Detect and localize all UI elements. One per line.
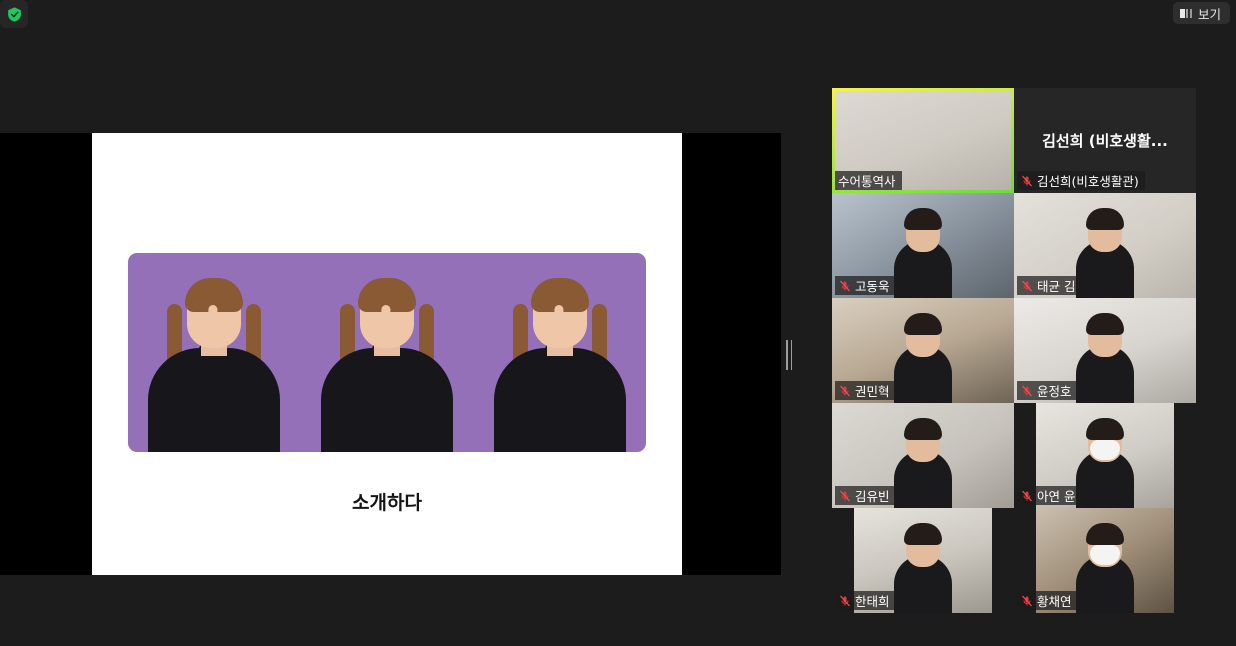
participant-figure: [1076, 555, 1134, 613]
participant-name: 김유빈: [855, 486, 890, 505]
participant-name: 수어통역사: [838, 171, 896, 190]
participant-figure: [894, 345, 952, 403]
participant-tile[interactable]: 윤정호: [1014, 298, 1196, 403]
shared-slide: 소개하다: [92, 133, 682, 575]
participant-tile[interactable]: 수어통역사: [832, 88, 1014, 193]
participant-figure: [1076, 240, 1134, 298]
participant-name-badge: 김유빈: [835, 486, 896, 505]
participant-name-badge: 권민혁: [835, 381, 896, 400]
shield-check-glyph: [6, 6, 23, 23]
signer-frame-2: [312, 267, 462, 452]
shield-check-icon[interactable]: [0, 0, 28, 28]
participant-figure: [894, 450, 952, 508]
participant-name: 권민혁: [855, 381, 890, 400]
participant-name-badge: 태균 김: [1017, 276, 1081, 295]
signer-frame-1: [139, 267, 289, 452]
mic-muted-icon: [839, 489, 851, 503]
slide-caption: 소개하다: [352, 488, 422, 515]
participant-name: 한태희: [855, 591, 890, 610]
participant-figure: [894, 240, 952, 298]
participant-name-badge: 윤정호: [1017, 381, 1078, 400]
participant-figure: [894, 555, 952, 613]
mic-muted-icon: [1021, 279, 1033, 293]
participant-tile[interactable]: 고동욱: [832, 193, 1014, 298]
participant-name: 고동욱: [855, 276, 890, 295]
mic-muted-icon: [1021, 384, 1033, 398]
participant-name-badge: 김선희(비호생활관): [1017, 171, 1145, 190]
top-bar: 보기: [0, 0, 1236, 27]
camera-off-name: 김선희 (비호생활...: [1034, 130, 1176, 151]
participant-name-badge: 황채연: [1017, 591, 1078, 610]
participant-tile[interactable]: 한태희: [832, 508, 1014, 613]
participant-name-badge: 아연 윤: [1017, 486, 1081, 505]
participant-name: 김선희(비호생활관): [1037, 171, 1139, 190]
mic-muted-icon: [1021, 174, 1033, 188]
participant-figure: [1076, 450, 1134, 508]
mic-muted-icon: [839, 279, 851, 293]
view-button-label: 보기: [1198, 4, 1221, 23]
participant-tile[interactable]: 김선희 (비호생활...김선희(비호생활관): [1014, 88, 1196, 193]
participant-name: 황채연: [1037, 591, 1072, 610]
participant-name: 태균 김: [1037, 276, 1075, 295]
participant-video-grid: 수어통역사김선희 (비호생활...김선희(비호생활관)고동욱태균 김권민혁윤정호…: [832, 88, 1196, 613]
view-button[interactable]: 보기: [1173, 2, 1230, 24]
participant-tile[interactable]: 황채연: [1014, 508, 1196, 613]
participant-tile[interactable]: 아연 윤: [1014, 403, 1196, 508]
participant-name: 아연 윤: [1037, 486, 1075, 505]
mic-muted-icon: [839, 384, 851, 398]
mic-muted-icon: [839, 594, 851, 608]
participant-tile[interactable]: 권민혁: [832, 298, 1014, 403]
layout-grid-icon: [1180, 9, 1192, 18]
mic-muted-icon: [1021, 594, 1033, 608]
participant-name-badge: 수어통역사: [835, 171, 902, 190]
sign-language-image: [128, 253, 646, 452]
participant-name-badge: 고동욱: [835, 276, 896, 295]
participant-tile[interactable]: 김유빈: [832, 403, 1014, 508]
shared-screen-stage[interactable]: 소개하다: [0, 133, 781, 575]
participant-name: 윤정호: [1037, 381, 1072, 400]
participant-tile[interactable]: 태균 김: [1014, 193, 1196, 298]
participant-figure: [1076, 345, 1134, 403]
resize-handle[interactable]: [785, 340, 793, 370]
mic-muted-icon: [1021, 489, 1033, 503]
signer-frame-3: [485, 267, 635, 452]
participant-name-badge: 한태희: [835, 591, 896, 610]
